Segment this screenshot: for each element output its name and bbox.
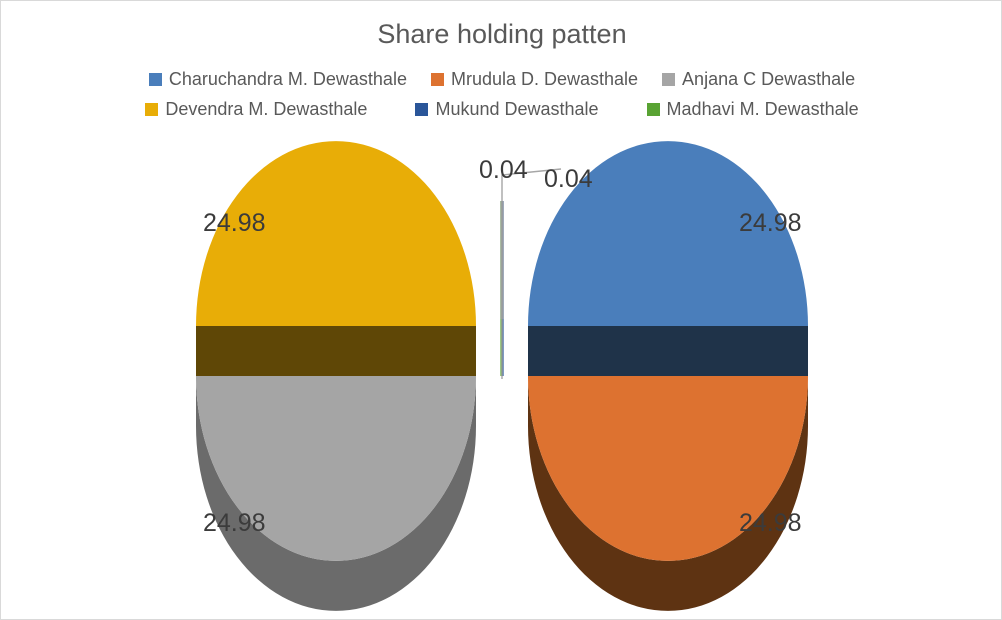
pie-3d-svg[interactable] — [1, 141, 1002, 611]
legend-item-madhavi-m-dewasthale[interactable]: Madhavi M. Dewasthale — [647, 99, 859, 120]
legend-swatch-icon — [145, 103, 158, 116]
chart-legend[interactable]: Charuchandra M. Dewasthale Mrudula D. De… — [1, 69, 1002, 120]
legend-item-anjana-c-dewasthale[interactable]: Anjana C Dewasthale — [662, 69, 855, 90]
legend-swatch-icon — [415, 103, 428, 116]
legend-item-label: Madhavi M. Dewasthale — [667, 99, 859, 120]
legend-item-label: Mukund Dewasthale — [435, 99, 598, 120]
legend-item-label: Charuchandra M. Dewasthale — [169, 69, 407, 90]
data-label-devendra-m-dewasthale: 24.98 — [203, 209, 266, 238]
legend-swatch-icon — [431, 73, 444, 86]
legend-swatch-icon — [647, 103, 660, 116]
data-label-charuchandra-m-dewasthale: 24.98 — [739, 209, 802, 238]
legend-item-mrudula-d-dewasthale[interactable]: Mrudula D. Dewasthale — [431, 69, 638, 90]
data-label-anjana-c-dewasthale: 24.98 — [203, 509, 266, 538]
pie-slice-side-devendra-m-dewasthale — [196, 326, 476, 376]
legend-item-label: Anjana C Dewasthale — [682, 69, 855, 90]
legend-swatch-icon — [149, 73, 162, 86]
legend-swatch-icon — [662, 73, 675, 86]
legend-item-label: Mrudula D. Dewasthale — [451, 69, 638, 90]
data-label-mukund-dewasthale: 0.04 — [479, 156, 528, 185]
legend-row: Devendra M. Dewasthale Mukund Dewasthale… — [145, 99, 858, 120]
chart-title[interactable]: Share holding patten — [1, 19, 1002, 50]
pie-plot-area[interactable]: 0.04 0.04 24.98 24.98 24.98 24.98 — [1, 141, 1002, 611]
legend-item-mukund-dewasthale[interactable]: Mukund Dewasthale — [415, 99, 598, 120]
legend-row: Charuchandra M. Dewasthale Mrudula D. De… — [149, 69, 855, 90]
legend-item-charuchandra-m-dewasthale[interactable]: Charuchandra M. Dewasthale — [149, 69, 407, 90]
data-label-mrudula-d-dewasthale: 24.98 — [739, 509, 802, 538]
data-label-madhavi-m-dewasthale: 0.04 — [544, 165, 593, 194]
legend-item-label: Devendra M. Dewasthale — [165, 99, 367, 120]
pie-slice-side-charuchandra-m-dewasthale — [528, 326, 808, 376]
legend-item-devendra-m-dewasthale[interactable]: Devendra M. Dewasthale — [145, 99, 367, 120]
chart-canvas[interactable]: Share holding patten Charuchandra M. Dew… — [0, 0, 1002, 620]
